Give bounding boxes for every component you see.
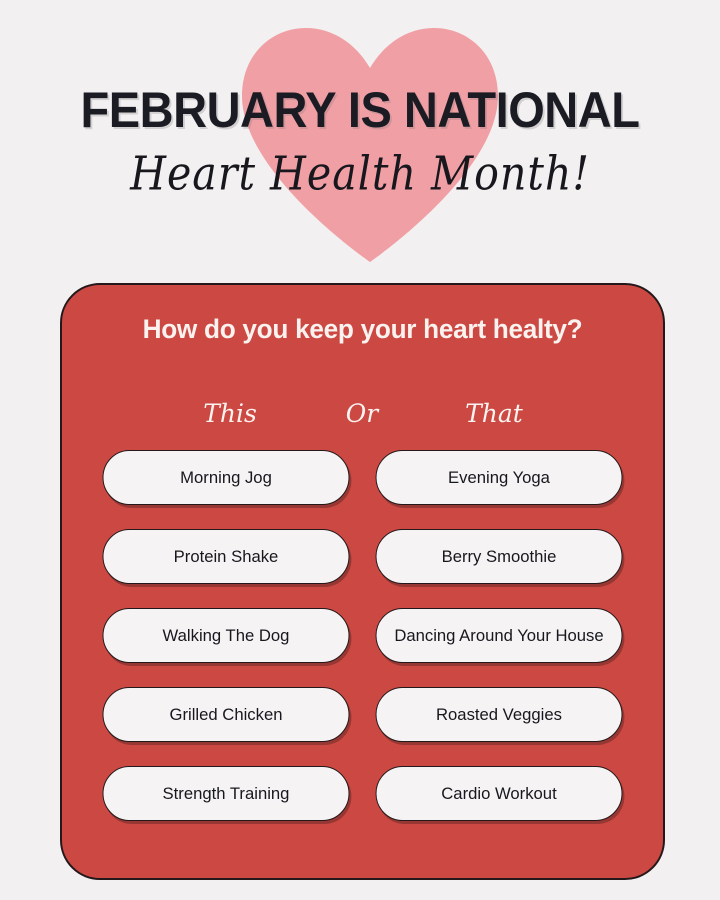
option-pill-that[interactable]: Berry Smoothie <box>376 529 623 584</box>
page-subtitle: Heart Health Month! <box>7 143 713 206</box>
option-pill-this[interactable]: Walking The Dog <box>103 608 350 663</box>
hero-banner: FEBRUARY IS NATIONAL Heart Health Month! <box>0 0 720 283</box>
option-pill-that[interactable]: Cardio Workout <box>376 766 623 821</box>
column-label-or: Or <box>302 397 422 431</box>
option-pill-this[interactable]: Strength Training <box>103 766 350 821</box>
options-grid: Morning Jog Evening Yoga Protein Shake B… <box>100 450 625 821</box>
option-row: Morning Jog Evening Yoga <box>100 450 625 505</box>
page-title: FEBRUARY IS NATIONAL <box>22 82 699 138</box>
quiz-question: How do you keep your heart healty? <box>71 312 654 346</box>
option-pill-this[interactable]: Protein Shake <box>103 529 350 584</box>
option-row: Grilled Chicken Roasted Veggies <box>100 687 625 742</box>
column-label-that: That <box>434 397 554 431</box>
option-row: Walking The Dog Dancing Around Your Hous… <box>100 608 625 663</box>
option-pill-that[interactable]: Roasted Veggies <box>376 687 623 742</box>
quiz-card: How do you keep your heart healty? This … <box>60 283 665 880</box>
option-pill-this[interactable]: Morning Jog <box>103 450 350 505</box>
option-pill-that[interactable]: Evening Yoga <box>376 450 623 505</box>
option-row: Strength Training Cardio Workout <box>100 766 625 821</box>
option-row: Protein Shake Berry Smoothie <box>100 529 625 584</box>
column-label-this: This <box>170 397 290 431</box>
option-pill-this[interactable]: Grilled Chicken <box>103 687 350 742</box>
column-header-row: This Or That <box>62 397 663 431</box>
option-pill-that[interactable]: Dancing Around Your House <box>376 608 623 663</box>
